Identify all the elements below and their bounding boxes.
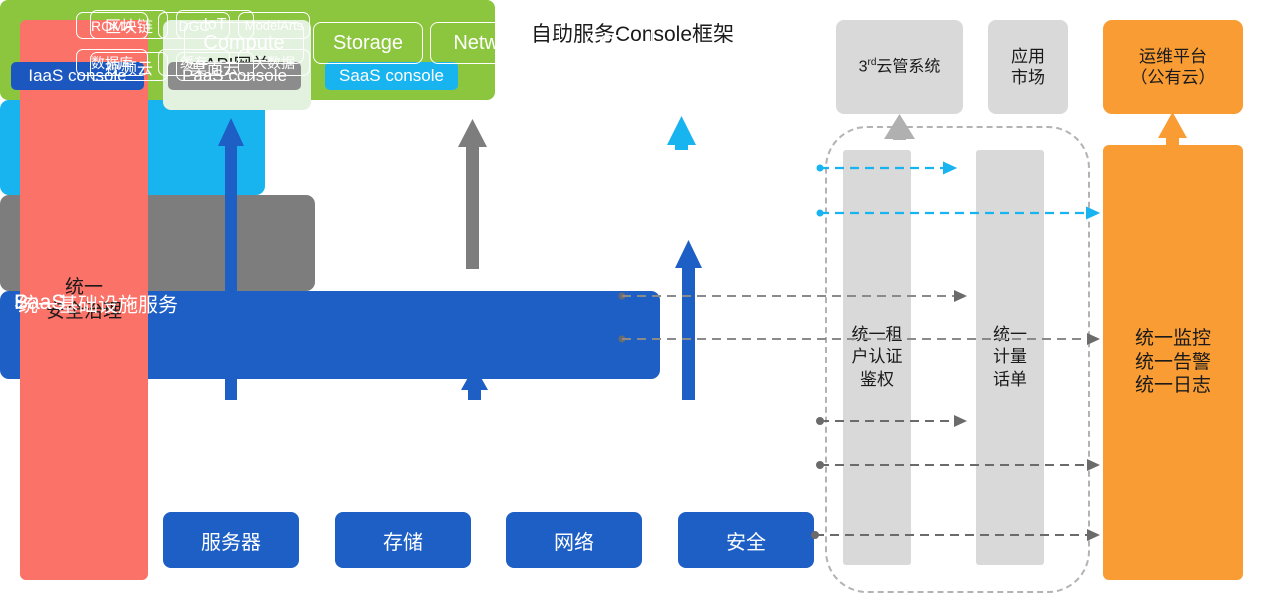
app-market-line2: 市场 [1011, 67, 1045, 88]
third-party-cloud-management-box[interactable]: 3rd云管系统 [836, 20, 963, 114]
hardware-box-storage[interactable]: 存储 [335, 512, 471, 568]
infra-item-storage-label: Storage [333, 32, 403, 55]
hardware-box-server-label: 服务器 [201, 526, 261, 555]
arrow-infra-to-saas [675, 240, 702, 400]
ops-monitor-line2: 统一告警 [1135, 351, 1211, 375]
saas-console-chip[interactable]: SaaS console [325, 62, 458, 90]
infra-item-network-label: Network [453, 32, 526, 55]
paas-item-database-label: 数据库 [91, 53, 133, 73]
shared-service-tenant-auth[interactable]: 统一租户认证鉴权 [843, 150, 911, 565]
arrow-saas-to-console [667, 116, 696, 150]
ops-monitor-line1: 统一监控 [1135, 327, 1211, 351]
app-market-line1: 应用 [1011, 46, 1045, 67]
saas-console-label: SaaS console [339, 66, 444, 86]
hardware-box-security[interactable]: 安全 [678, 512, 814, 568]
hardware-box-security-label: 安全 [726, 526, 766, 555]
ops-monitoring-pillar[interactable]: 统一监控 统一告警 统一日志 [1103, 145, 1243, 580]
infra-item-compute-label: Compute [203, 32, 284, 55]
infra-item-network[interactable]: Network [430, 22, 550, 64]
ops-platform-box[interactable]: 运维平台 （公有云） [1103, 20, 1243, 114]
hardware-box-server[interactable]: 服务器 [163, 512, 299, 568]
infra-item-compute[interactable]: Compute [184, 22, 304, 64]
paas-item-roma-label: ROMA [91, 18, 133, 34]
shared-service-metering-label: 统一计量话单 [993, 324, 1027, 390]
paas-item-roma[interactable]: ROMA [76, 12, 148, 39]
architecture-diagram: 统一 安全治理 API网关 自助服务Console框架 IaaS console… [0, 0, 1265, 605]
hardware-box-network-label: 网络 [554, 526, 594, 555]
shared-service-tenant-auth-label: 统一租户认证鉴权 [852, 324, 903, 390]
infra-item-cce[interactable]: CCE [559, 22, 652, 64]
ops-platform-line2: （公有云） [1131, 67, 1216, 88]
hardware-box-network[interactable]: 网络 [506, 512, 642, 568]
shared-service-metering[interactable]: 统一计量话单 [976, 150, 1044, 565]
arrow-paas-to-console [458, 119, 487, 269]
hardware-box-storage-label: 存储 [383, 526, 423, 555]
app-market-box[interactable]: 应用 市场 [988, 20, 1068, 114]
ops-monitor-line3: 统一日志 [1135, 374, 1211, 398]
third-party-cms-label: 3rd云管系统 [859, 57, 941, 77]
infra-item-cce-label: CCE [584, 32, 626, 55]
paas-item-database[interactable]: 数据库 [76, 49, 148, 76]
arrow-to-ops-platform [1158, 112, 1187, 146]
ops-platform-line1: 运维平台 [1131, 46, 1216, 67]
infra-item-storage[interactable]: Storage [313, 22, 423, 64]
unified-infrastructure-label: 统一基础设施服务 [18, 288, 178, 317]
